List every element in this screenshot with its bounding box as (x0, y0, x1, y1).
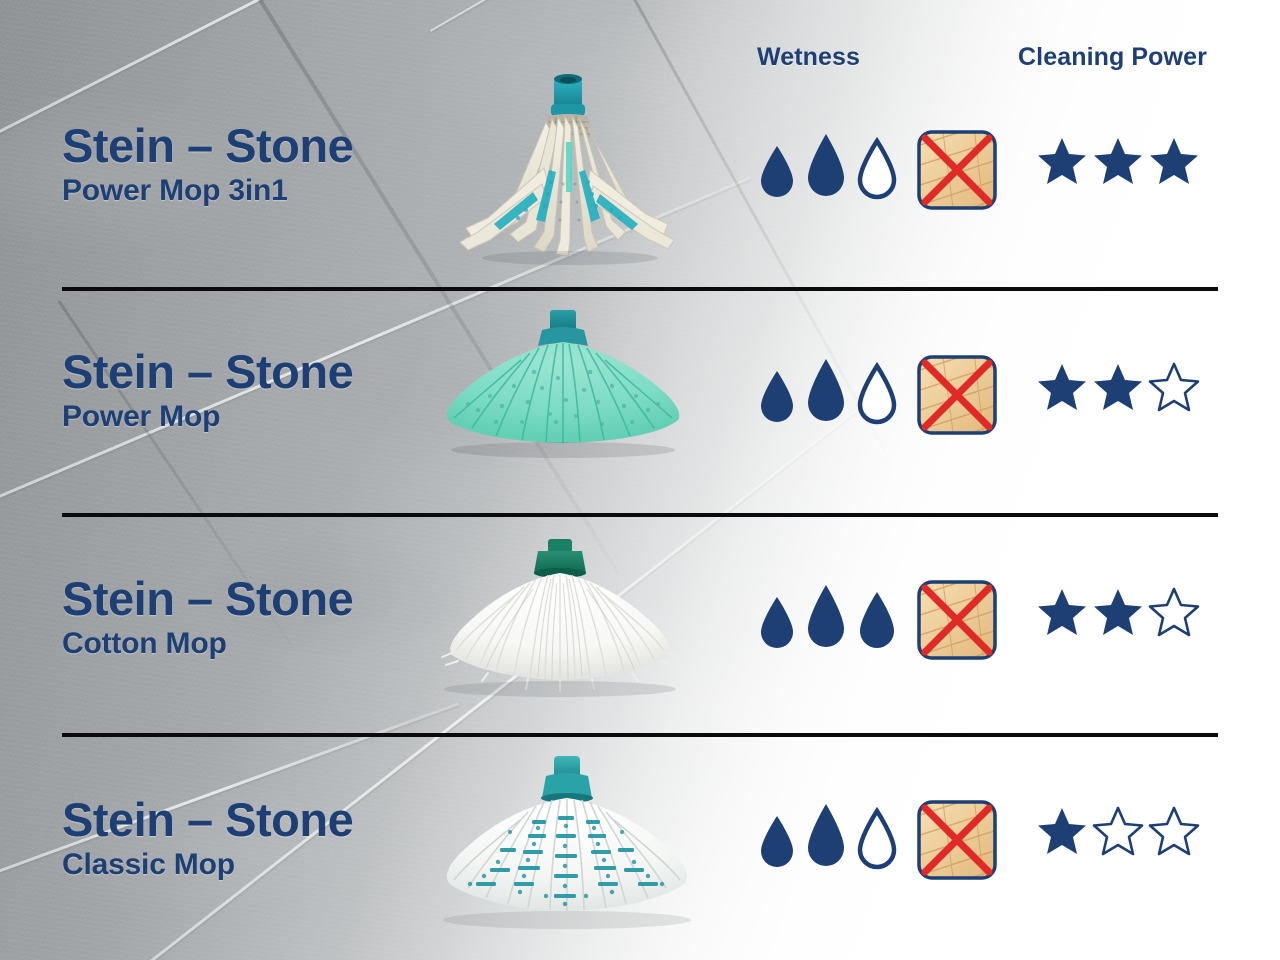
star-filled-icon (1092, 362, 1144, 412)
cleaning-power-rating (1036, 136, 1200, 186)
star-filled-icon (1092, 136, 1144, 186)
water-drop-filled-icon (803, 130, 849, 200)
product-image-cotton-mop (428, 539, 692, 719)
star-outline-icon (1148, 587, 1200, 637)
water-drop-outline-icon (855, 136, 899, 200)
water-drop-filled-icon (757, 812, 797, 870)
star-filled-icon (1036, 806, 1088, 856)
product-image-power-mop (438, 310, 690, 485)
product-row: Stein – Stone Classic Mop (0, 748, 1280, 953)
water-drop-filled-icon (757, 367, 797, 425)
product-name-block: Stein – Stone Cotton Mop (62, 575, 353, 660)
water-drop-outline-icon (855, 806, 899, 870)
product-name-block: Stein – Stone Power Mop 3in1 (62, 122, 353, 207)
star-outline-icon (1148, 362, 1200, 412)
wood-floor-not-suitable-icon (915, 798, 999, 887)
product-variant: Power Mop 3in1 (62, 174, 353, 207)
water-drop-filled-icon (855, 587, 899, 651)
water-drop-filled-icon (757, 142, 797, 200)
water-drop-filled-icon (803, 581, 849, 651)
star-filled-icon (1036, 136, 1088, 186)
water-drop-outline-icon (855, 361, 899, 425)
star-outline-icon (1148, 806, 1200, 856)
water-drop-filled-icon (757, 593, 797, 651)
cleaning-power-rating (1036, 587, 1200, 637)
product-brand: Stein – Stone (62, 348, 353, 396)
wood-floor-not-suitable-icon (915, 578, 999, 667)
row-divider (62, 733, 1218, 737)
wetness-rating (757, 355, 899, 425)
column-header-wetness: Wetness (757, 43, 860, 72)
product-comparison-chart: Wetness Cleaning Power Stein – Stone Pow… (0, 0, 1280, 960)
water-drop-filled-icon (803, 800, 849, 870)
wetness-rating (757, 581, 899, 651)
product-image-classic-mop (428, 756, 704, 946)
star-filled-icon (1036, 587, 1088, 637)
product-name-block: Stein – Stone Classic Mop (62, 796, 353, 881)
wetness-rating (757, 800, 899, 870)
row-divider (62, 513, 1218, 517)
wood-floor-not-suitable-icon (915, 128, 999, 217)
cleaning-power-rating (1036, 362, 1200, 412)
water-drop-filled-icon (803, 355, 849, 425)
star-filled-icon (1092, 587, 1144, 637)
wood-floor-not-suitable-icon (915, 353, 999, 442)
product-row: Stein – Stone Cotton Mop (0, 525, 1280, 725)
product-variant: Power Mop (62, 400, 353, 433)
product-row: Stein – Stone Power Mop 3in1 (0, 80, 1280, 270)
product-variant: Cotton Mop (62, 627, 353, 660)
row-divider (62, 287, 1218, 291)
column-header-cleaning-power: Cleaning Power (1018, 43, 1207, 72)
wetness-rating (757, 130, 899, 200)
product-brand: Stein – Stone (62, 122, 353, 170)
product-name-block: Stein – Stone Power Mop (62, 348, 353, 433)
cleaning-power-rating (1036, 806, 1200, 856)
star-filled-icon (1148, 136, 1200, 186)
product-image-power-mop-3in1 (448, 72, 688, 267)
product-brand: Stein – Stone (62, 575, 353, 623)
product-brand: Stein – Stone (62, 796, 353, 844)
product-row: Stein – Stone Power Mop (0, 300, 1280, 500)
product-variant: Classic Mop (62, 848, 353, 881)
star-filled-icon (1036, 362, 1088, 412)
star-outline-icon (1092, 806, 1144, 856)
